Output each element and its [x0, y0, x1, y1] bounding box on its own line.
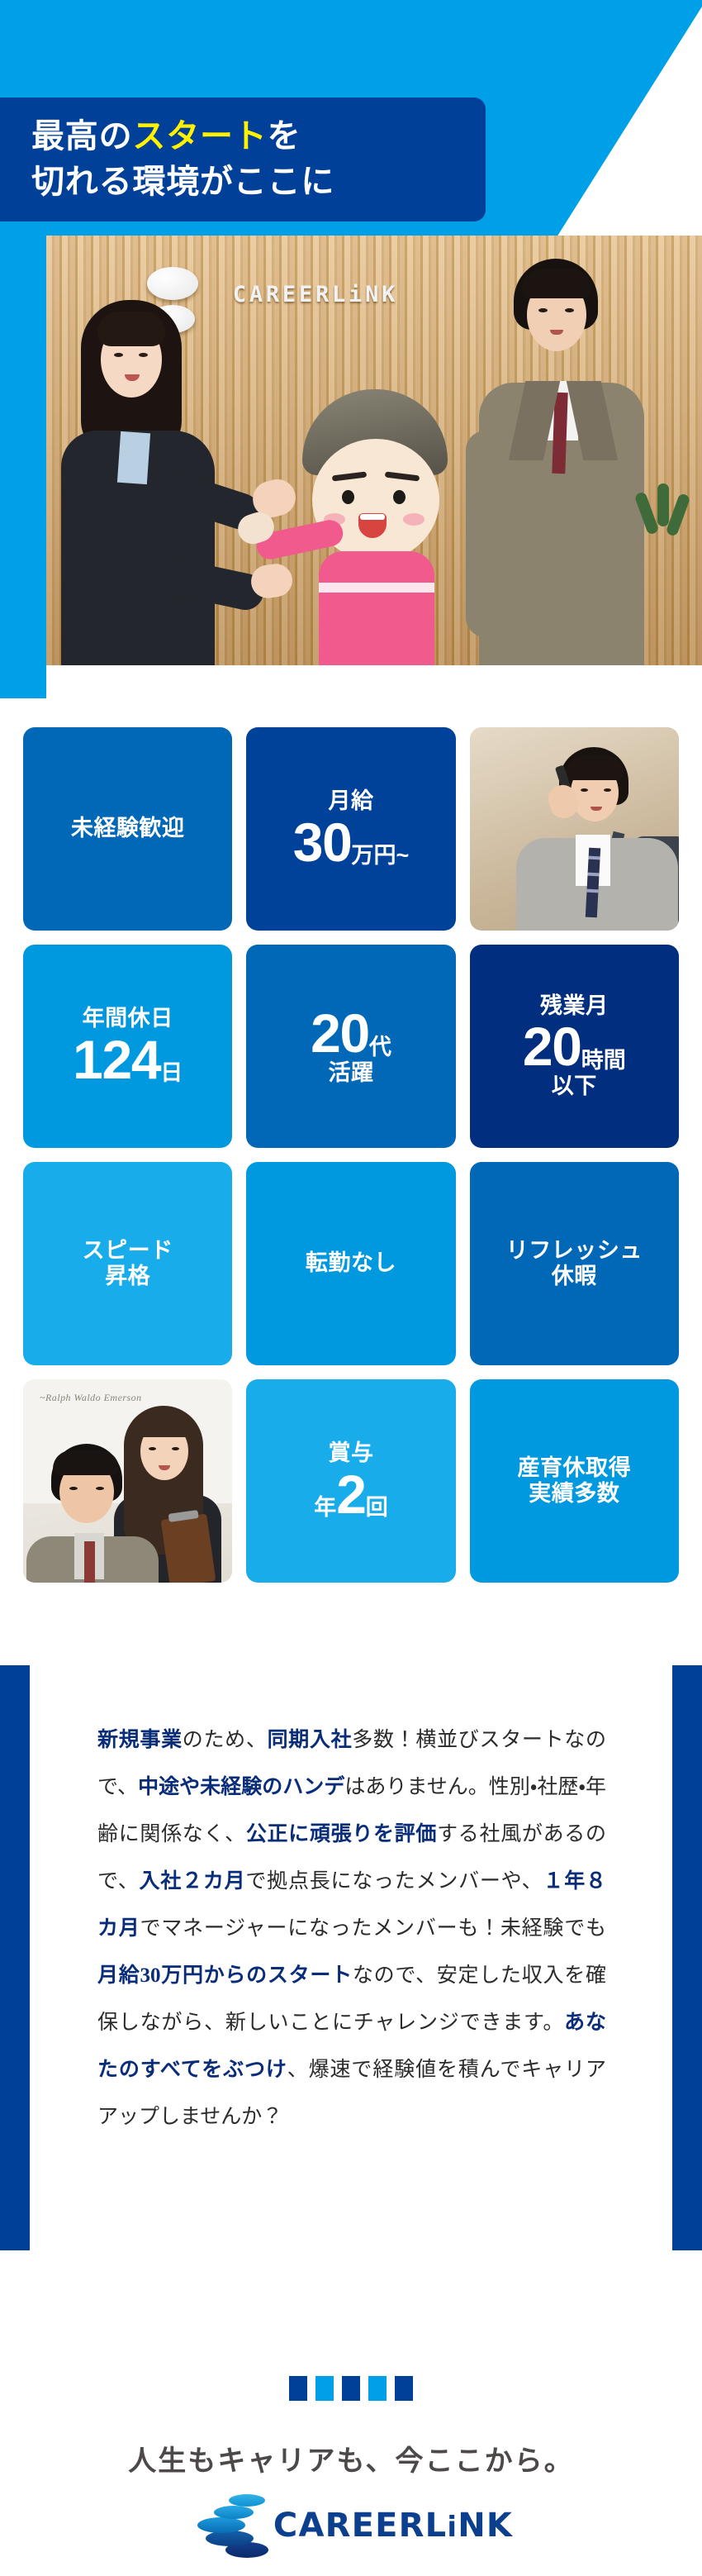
benefit-card-4: 年間休日124日 [23, 945, 232, 1148]
card-label: リフレッシュ [506, 1238, 643, 1264]
benefit-card-2: 月給30万円~ [246, 727, 455, 931]
message-paragraph: 新規事業のため、同期入社多数！横並びスタートなので、中途や未経験のハンデはありま… [97, 1717, 606, 2140]
decorative-dot-4 [368, 2376, 387, 2401]
logo-mark-icon [189, 2493, 265, 2559]
card-number-unit: 万円~ [351, 843, 409, 869]
benefit-card-photo-two-colleagues: ~Ralph Waldo Emerson [23, 1379, 232, 1583]
man-eye-left [538, 308, 548, 312]
man-fringe [522, 269, 591, 298]
office-plant [638, 483, 687, 583]
card-label: 未経験歓迎 [71, 816, 185, 841]
decorative-dot-3 [342, 2376, 360, 2401]
logo-wordmark: CAREERLiNK [273, 2507, 513, 2545]
benefit-card-5: 20代活躍 [246, 945, 455, 1148]
card-label: 転勤なし [306, 1250, 396, 1276]
decorative-dot-2 [315, 2376, 334, 2401]
card-number-row: 20時間 [523, 1019, 626, 1074]
mascot-teeth [360, 514, 385, 520]
card-number-row: 20代 [311, 1006, 391, 1060]
landing-page: 最高のスタートを 切れる環境がここに CAREERLiNK [0, 0, 702, 2576]
mascot-eye-right [393, 490, 406, 504]
office-sign-text: CAREERLiNK [192, 279, 439, 310]
benefit-card-photo-man-phone [470, 727, 679, 931]
card-label: 以下 [552, 1074, 597, 1099]
card-label: 昇格 [105, 1264, 150, 1289]
mascot-body-stripe [319, 583, 434, 593]
tagline: 人生もキャリアも、今ここから。 [0, 2438, 702, 2478]
card-number-prefix: 年 [314, 1495, 336, 1521]
decorative-dots [0, 2376, 702, 2401]
title-part-c: を [268, 118, 301, 155]
benefit-card-7: スピード昇格 [23, 1162, 232, 1365]
benefit-card-1: 未経験歓迎 [23, 727, 232, 931]
card-number-row: 30万円~ [293, 815, 410, 869]
card-number: 2 [336, 1467, 365, 1521]
hero-photo: CAREERLiNK [46, 236, 702, 665]
mascot-eye-left [342, 490, 354, 504]
benefit-card-8: 転勤なし [246, 1162, 455, 1365]
benefits-card-grid: 未経験歓迎月給30万円~年間休日124日20代活躍残業月20時間以下スピード昇格… [23, 727, 679, 1583]
woman-fringe [97, 312, 165, 346]
card-number: 20 [311, 1006, 369, 1060]
message-accent-bar-left [0, 1665, 30, 2250]
woman-shirt [117, 431, 150, 484]
hero-section: 最高のスタートを 切れる環境がここに CAREERLiNK [0, 0, 702, 698]
logo-text-end: NK [458, 2507, 513, 2545]
card-label: 年間休日 [83, 1006, 173, 1031]
card-label: 実績多数 [529, 1481, 619, 1507]
logo-text-i: i [447, 2511, 458, 2544]
card-label: 賞与 [328, 1440, 373, 1466]
message-accent-bar-right [672, 1665, 702, 2250]
benefit-card-11: 賞与年2回 [246, 1379, 455, 1583]
card-number: 20 [523, 1019, 581, 1074]
title-part-highlight: スタート [132, 118, 267, 155]
logo-text-main: CAREERL [273, 2507, 447, 2545]
decorative-dot-5 [395, 2376, 413, 2401]
page-title-line-2: 切れる環境がここに [31, 160, 486, 205]
card-number: 30 [293, 815, 352, 869]
card-number-row: 124日 [73, 1032, 183, 1087]
page-title-line-1: 最高のスタートを [31, 114, 486, 160]
card-number-row: 年2回 [314, 1467, 387, 1521]
mascot-cheek-right [403, 513, 425, 526]
card-number-unit: 時間 [581, 1048, 626, 1074]
mascot-body [319, 551, 434, 665]
decorative-dot-1 [289, 2376, 307, 2401]
card-number: 124 [73, 1032, 160, 1087]
man-arm [466, 431, 505, 637]
card-label: スピード [83, 1238, 173, 1264]
card-label: 月給 [328, 788, 373, 814]
benefit-card-12: 産育休取得実績多数 [470, 1379, 679, 1583]
card-number-unit: 代 [369, 1035, 391, 1060]
title-part-a: 最高の [31, 118, 132, 155]
benefit-card-6: 残業月20時間以下 [470, 945, 679, 1148]
card-number-unit: 日 [160, 1060, 183, 1086]
woman-eye-left [114, 353, 123, 357]
card-number-unit: 回 [366, 1495, 388, 1521]
man-eye-right [565, 308, 574, 312]
company-logo: CAREERLiNK [0, 2493, 702, 2559]
benefit-card-9: リフレッシュ休暇 [470, 1162, 679, 1365]
card-label: 休暇 [552, 1264, 597, 1289]
woman-eye-right [139, 353, 148, 357]
card-label: 活躍 [328, 1060, 373, 1086]
message-section: 新規事業のため、同期入社多数！横並びスタートなので、中途や未経験のハンデはありま… [0, 1665, 702, 2293]
card-label: 産育休取得 [517, 1455, 631, 1481]
hero-title-box: 最高のスタートを 切れる環境がここに [0, 98, 486, 221]
hero-left-stripe [0, 248, 46, 698]
sign-decor-dot-1 [147, 267, 198, 300]
